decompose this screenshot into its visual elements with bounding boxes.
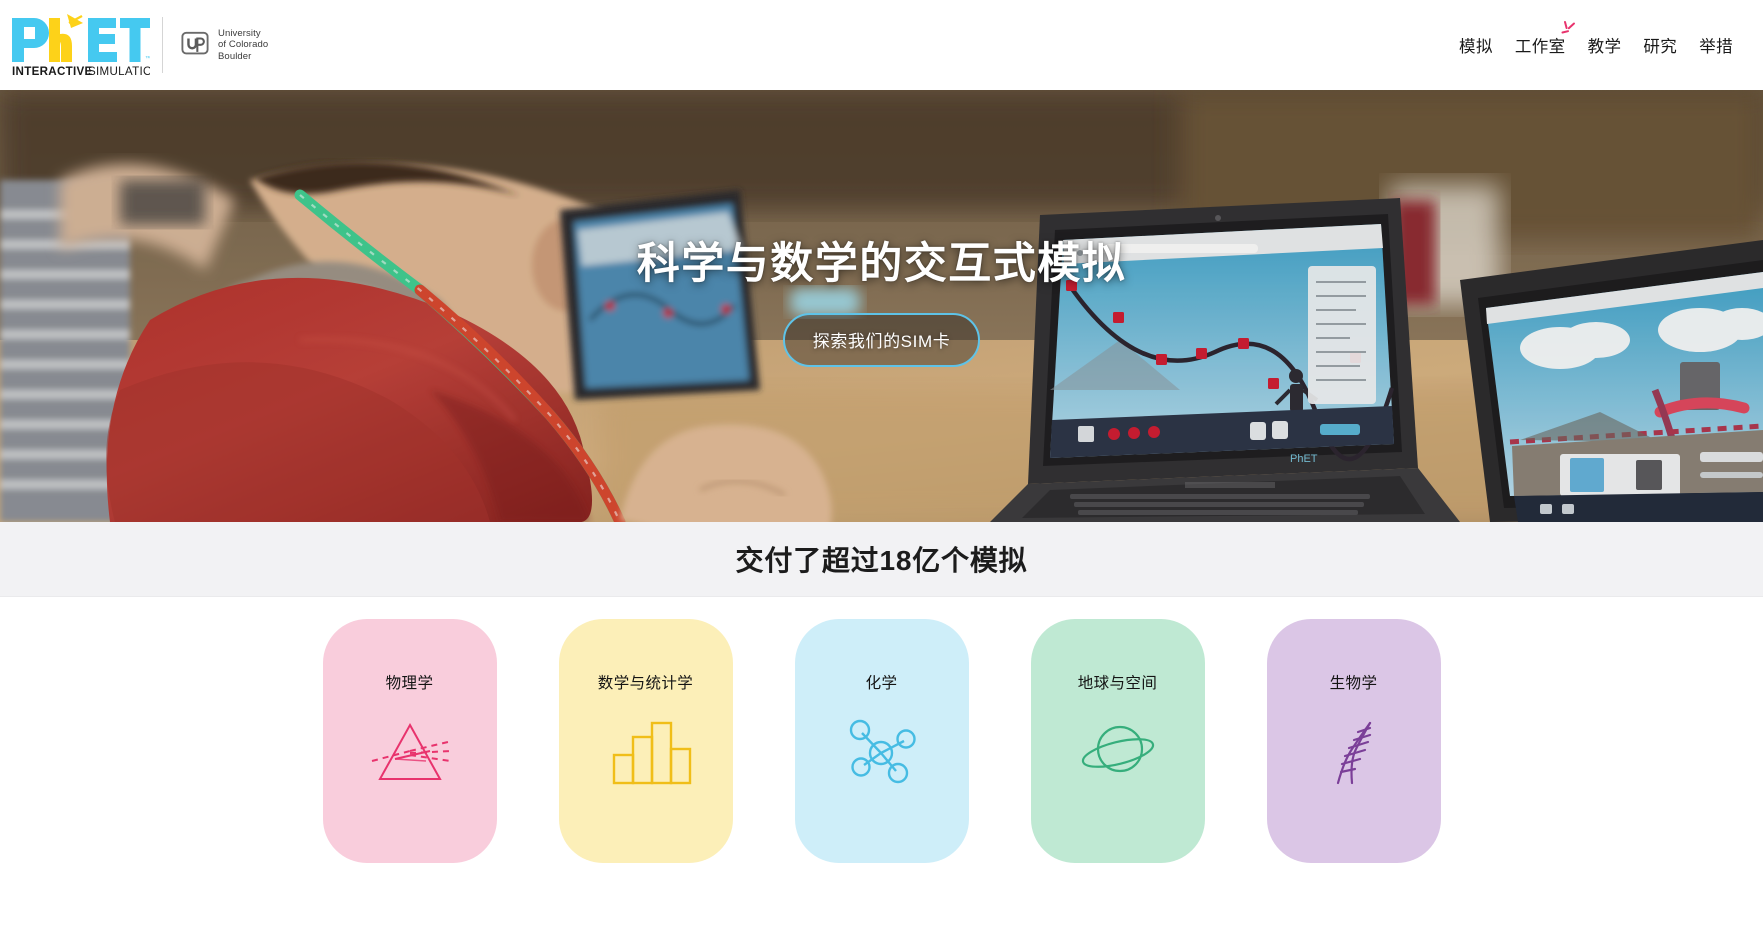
category-biology-label: 生物学: [1330, 671, 1378, 693]
hero-title: 科学与数学的交互式模拟: [637, 229, 1127, 291]
category-cards: 物理学 数学与统计学 化学: [0, 597, 1763, 925]
nav-simulations[interactable]: 模拟: [1459, 33, 1493, 57]
hero-content: 科学与数学的交互式模拟 探索我们的SIM卡: [0, 90, 1763, 522]
molecule-icon: [836, 711, 928, 791]
category-physics[interactable]: 物理学: [323, 619, 497, 863]
site-header: ™ INTERACTIVE SIMULATIONS University of …: [0, 0, 1763, 90]
phet-logo[interactable]: ™ INTERACTIVE SIMULATIONS: [8, 12, 150, 78]
nav-teaching[interactable]: 教学: [1588, 33, 1622, 57]
category-chemistry[interactable]: 化学: [795, 619, 969, 863]
brand-divider: [162, 17, 163, 73]
new-sparkle-icon: [1559, 20, 1579, 38]
svg-text:INTERACTIVE: INTERACTIVE: [12, 65, 93, 78]
stats-banner: 交付了超过18亿个模拟: [0, 522, 1763, 597]
nav-research[interactable]: 研究: [1643, 33, 1677, 57]
cu-boulder-text: University of Colorado Boulder: [218, 28, 268, 63]
brand-zone: ™ INTERACTIVE SIMULATIONS University of …: [8, 12, 268, 78]
category-earth-space[interactable]: 地球与空间: [1031, 619, 1205, 863]
nav-studio-label: 工作室: [1515, 38, 1566, 56]
nav-simulations-label: 模拟: [1459, 38, 1493, 56]
explore-sims-button[interactable]: 探索我们的SIM卡: [783, 313, 981, 367]
category-physics-label: 物理学: [386, 671, 434, 693]
dna-icon: [1308, 711, 1400, 791]
planet-icon: [1072, 711, 1164, 791]
bar-chart-icon: [600, 711, 692, 791]
cu-boulder-brand[interactable]: University of Colorado Boulder: [181, 28, 268, 63]
prism-icon: [364, 711, 456, 791]
nav-research-label: 研究: [1643, 38, 1677, 56]
nav-initiatives-label: 举措: [1699, 38, 1733, 56]
category-math-statistics-label: 数学与统计学: [598, 671, 693, 693]
stats-count-text: 交付了超过18亿个模拟: [736, 539, 1028, 579]
category-biology[interactable]: 生物学: [1267, 619, 1441, 863]
hero-section: PhET: [0, 90, 1763, 522]
svg-text:™: ™: [145, 55, 150, 62]
nav-teaching-label: 教学: [1588, 38, 1622, 56]
category-math-statistics[interactable]: 数学与统计学: [559, 619, 733, 863]
category-chemistry-label: 化学: [866, 671, 898, 693]
main-nav: 模拟 工作室 教学 研究 举措: [1459, 33, 1737, 57]
nav-initiatives[interactable]: 举措: [1699, 33, 1733, 57]
category-earth-space-label: 地球与空间: [1078, 671, 1158, 693]
cu-boulder-logo: [181, 31, 209, 59]
svg-text:SIMULATIONS: SIMULATIONS: [88, 65, 150, 78]
nav-studio[interactable]: 工作室: [1515, 33, 1566, 57]
